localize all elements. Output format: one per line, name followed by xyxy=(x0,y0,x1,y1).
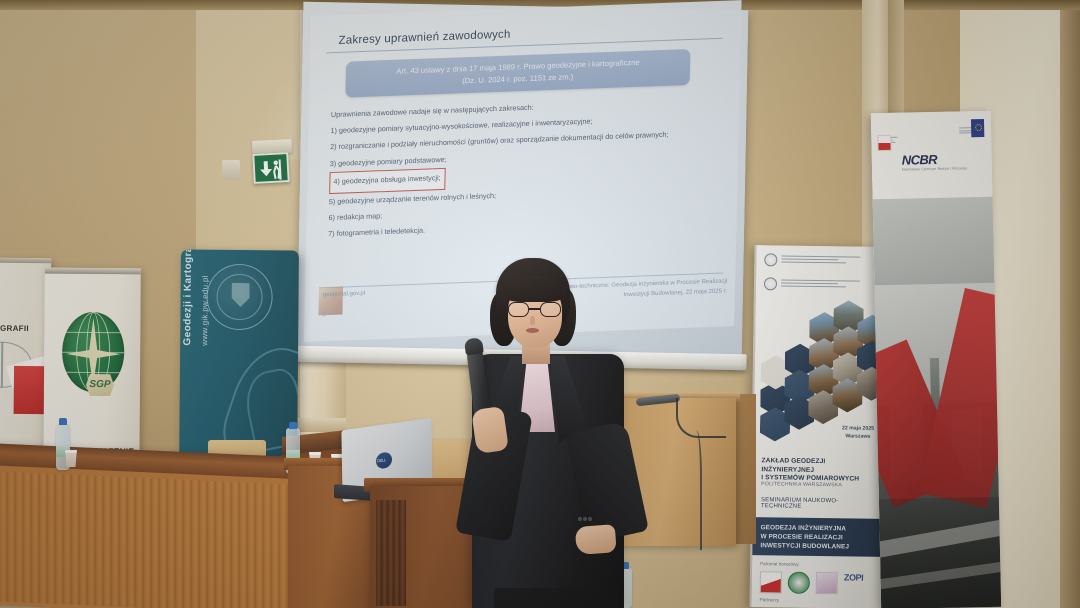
rollup-partners-label: Partnerzy xyxy=(760,597,780,602)
speaker-hand-left xyxy=(575,524,617,555)
rollup-date-block: 22 maja 2025 Warszawa xyxy=(832,424,884,441)
ncbr-city-photo xyxy=(873,197,1002,608)
speaker-nose xyxy=(530,316,535,325)
sponsor-logo-violet xyxy=(816,572,838,594)
rollup-logo-row-top xyxy=(764,253,880,268)
cable-hanging xyxy=(688,430,702,550)
ncbr-brand-sub: Narodowe Centrum Badań i Rozwoju xyxy=(902,166,968,171)
dell-logo-icon xyxy=(376,451,392,469)
sponsor-logo-gugik xyxy=(760,571,782,593)
ncbr-header: NCBR Narodowe Centrum Badań i Rozwoju xyxy=(871,111,993,199)
rollup-title-line2: W PROCESIE REALIZACJI INWESTYCJI BUDOWLA… xyxy=(760,532,880,552)
speaker-mouth xyxy=(526,328,539,333)
cup-rim xyxy=(64,450,78,453)
speaker-fringe xyxy=(502,276,566,302)
slide-footer-url: geoportal.gov.pl xyxy=(323,291,365,299)
podium-slat-panel xyxy=(376,500,406,606)
speaker-presenter xyxy=(450,258,640,608)
rollup-city: Warszawa xyxy=(832,432,884,441)
speaker-hand-holding-mic xyxy=(471,406,509,454)
banner-sgp-rod xyxy=(45,268,141,275)
bottle-cap xyxy=(59,418,67,425)
banner-rod xyxy=(0,258,51,264)
pw-seal-small-icon xyxy=(764,253,777,266)
rollup-org-sub: POLITECHNIKA WARSZAWSKA xyxy=(761,481,879,489)
wall-sensor-box xyxy=(222,160,240,180)
slide-body: Uprawnienia zawodowe nadaje się w następ… xyxy=(328,92,725,243)
banner-pw-url: www.gik.pw.edu.pl xyxy=(200,249,210,345)
slide-page-number: 5 xyxy=(322,311,326,318)
eu-flag-icon xyxy=(971,119,984,137)
glasses-lens-right xyxy=(540,302,561,317)
rollup-org-line1: ZAKŁAD GEODEZJI INŻYNIERYJNEJ xyxy=(761,457,879,476)
microphone-head xyxy=(464,337,484,355)
pw-seal-icon xyxy=(206,264,273,331)
slide-title: Zakresy uprawnień zawodowych xyxy=(324,11,727,48)
glasses-lens-left xyxy=(508,302,529,317)
lecture-hall-photo: Zakresy uprawnień zawodowych Art. 43 ust… xyxy=(0,0,1080,608)
rollup-faculty-text xyxy=(781,255,880,265)
cable-loop xyxy=(676,398,726,438)
sgp-globe-icon: SGP xyxy=(62,312,125,392)
poland-flag-icon xyxy=(877,135,891,151)
rollup-logo-row-second xyxy=(764,277,880,292)
sponsor-logo-green xyxy=(788,572,810,594)
rollup-sponsor-row: ZOPI xyxy=(760,571,880,595)
cup-rim xyxy=(308,452,322,455)
rollup-patrons-label: Patronat honorowy xyxy=(760,561,799,567)
rollup-partner-text xyxy=(781,279,880,289)
eyeglasses-icon xyxy=(508,302,562,318)
banner-conference-rollup: 22 maja 2025 Warszawa ZAKŁAD GEODEZJI IN… xyxy=(749,245,886,608)
bottle-cap xyxy=(289,422,297,429)
speaker-skirt xyxy=(494,588,618,608)
sgp-seal-small-icon xyxy=(764,277,777,290)
glasses-bridge xyxy=(529,308,540,310)
banner-ncbr: NCBR Narodowe Centrum Badań i Rozwoju xyxy=(871,111,1001,608)
sponsor-logo-zopi: ZOPI xyxy=(844,572,880,595)
right-wall-shadow xyxy=(1060,0,1080,608)
slide-law-reference: Art. 43 ustawy z dnia 17 maja 1989 r. Pr… xyxy=(345,49,690,97)
rollup-title-text: GEODEZJA INŻYNIERYJNA W PROCESIE REALIZA… xyxy=(760,523,880,552)
rollup-title-band: GEODEZJA INŻYNIERYJNA W PROCESIE REALIZA… xyxy=(752,517,885,557)
pw-shield-icon xyxy=(231,283,249,307)
emergency-exit-icon xyxy=(252,152,290,184)
banner-pw-faculty: Geodezji i Kartografii xyxy=(182,249,194,345)
table-front-slats xyxy=(0,471,290,608)
rollup-event-type: SEMINARIUM NAUKOWO-TECHNICZNE xyxy=(761,497,879,511)
blazer-cuff-buttons xyxy=(578,508,594,513)
ncbr-brand: NCBR xyxy=(902,152,937,168)
sgp-badge: SGP xyxy=(86,374,114,396)
